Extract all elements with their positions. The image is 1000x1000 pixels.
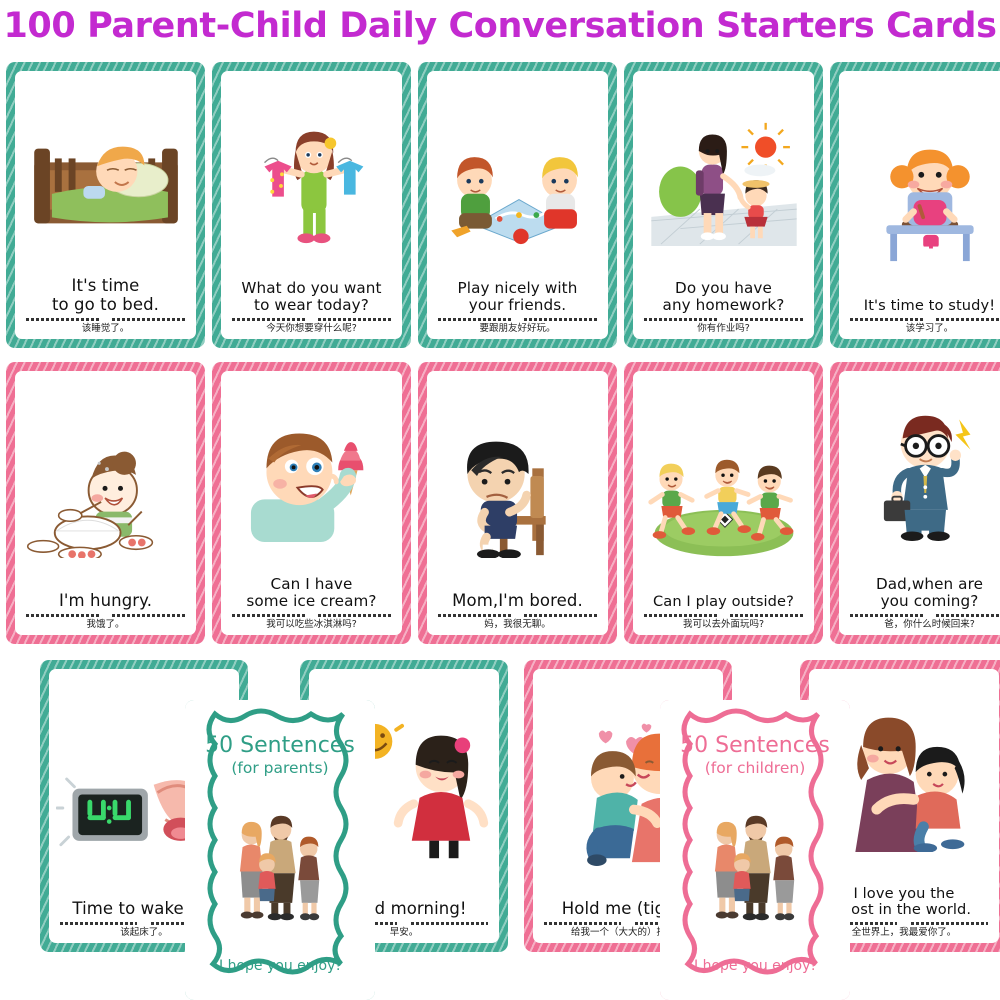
- card-chinese-text: 今天你想要穿什么呢?: [266, 323, 357, 339]
- card-chinese-text: 该学习了。: [906, 323, 954, 339]
- qr-code[interactable]: [707, 248, 741, 279]
- writing-rules: [438, 318, 597, 321]
- card-chinese-text: 早安。: [390, 927, 419, 943]
- qr-code[interactable]: [611, 868, 645, 899]
- product-image: 100 Parent-Child Daily Conversation Star…: [0, 0, 1000, 1000]
- flashcard[interactable]: It's time to study! 该学习了。: [830, 62, 1000, 348]
- flashcard[interactable]: Play nicely with your friends. 要跟朋友好好玩。: [418, 62, 617, 348]
- card-english-text: Can I play outside?: [650, 594, 797, 610]
- flashcard[interactable]: I'm hungry. 我饿了。: [6, 362, 205, 644]
- qr-code[interactable]: [127, 868, 161, 899]
- writing-rules: [26, 318, 185, 321]
- illustration-family-of-four: [232, 814, 328, 922]
- illustration-bored-boy-on-chair: [427, 371, 608, 560]
- card-chinese-text: 我饿了。: [86, 619, 124, 635]
- cover-subtitle: (for children): [680, 759, 830, 777]
- cover-card-children[interactable]: 50 Sentences (for children): [660, 700, 850, 1000]
- card-chinese-text: 该睡觉了。: [82, 323, 130, 339]
- card-english-text: Mom,I'm bored.: [449, 592, 586, 611]
- qr-code[interactable]: [501, 248, 535, 279]
- qr-code[interactable]: [387, 868, 421, 899]
- card-english-text: It's time to go to bed.: [49, 277, 162, 314]
- card-chinese-text: 要跟朋友好好玩。: [479, 323, 555, 339]
- qr-code[interactable]: [89, 245, 123, 276]
- illustration-girl-choosing-clothes: [221, 71, 402, 248]
- qr-code[interactable]: [89, 560, 123, 591]
- cover-title: 50 Sentences: [205, 734, 355, 757]
- writing-rules: [232, 614, 391, 617]
- card-english-text: I'm hungry.: [56, 592, 155, 611]
- flashcard[interactable]: Mom,I'm bored. 妈，我很无聊。: [418, 362, 617, 644]
- illustration-mother-and-daughter-walking: [633, 71, 814, 248]
- illustration-girl-eating-rice-bowl: [15, 371, 196, 560]
- writing-rules: [644, 614, 803, 617]
- illustration-family-of-four: [707, 814, 803, 922]
- card-english-text: Can I have some ice cream?: [243, 576, 379, 610]
- page-title: 100 Parent-Child Daily Conversation Star…: [0, 0, 1000, 52]
- flashcard[interactable]: What do you want to wear today? 今天你想要穿什么…: [212, 62, 411, 348]
- cover-footer: I hope you enjoy!: [219, 958, 341, 974]
- qr-code[interactable]: [913, 266, 947, 297]
- flashcard[interactable]: It's time to go to bed. 该睡觉了。: [6, 62, 205, 348]
- card-chinese-text: 妈，我很无聊。: [484, 619, 551, 635]
- writing-rules: [644, 318, 803, 321]
- card-english-text: What do you want to wear today?: [238, 280, 384, 314]
- qr-code[interactable]: [707, 562, 741, 593]
- flashcard[interactable]: Can I play outside? 我可以去外面玩吗?: [624, 362, 823, 644]
- card-english-text: Dad,when are you coming?: [873, 576, 986, 610]
- illustration-girl-at-desk-studying: [839, 71, 1000, 266]
- card-chinese-text: 你有作业吗?: [697, 323, 750, 339]
- writing-rules: [850, 614, 1000, 617]
- card-chinese-text: 全世界上，我最爱你了。: [852, 927, 957, 943]
- card-chinese-text: 爸，你什么时候回来?: [884, 619, 975, 635]
- writing-rules: [850, 318, 1000, 321]
- illustration-businessman-dad-with-briefcase: [839, 371, 1000, 544]
- cover-title: 50 Sentences: [680, 734, 830, 757]
- illustration-boy-holding-ice-cream-cone: [221, 371, 402, 544]
- card-english-text: Play nicely with your friends.: [455, 280, 581, 314]
- qr-code[interactable]: [295, 544, 329, 575]
- cover-card-parents[interactable]: 50 Sentences (for parents): [185, 700, 375, 1000]
- card-chinese-text: 该起床了。: [120, 927, 168, 943]
- qr-code[interactable]: [295, 248, 329, 279]
- card-chinese-text: 我可以去外面玩吗?: [683, 619, 764, 635]
- writing-rules: [232, 318, 391, 321]
- cover-subtitle: (for parents): [205, 759, 355, 777]
- flashcard[interactable]: Do you have any homework? 你有作业吗?: [624, 62, 823, 348]
- writing-rules: [438, 614, 597, 617]
- flashcard[interactable]: Can I have some ice cream? 我可以吃些冰淇淋吗?: [212, 362, 411, 644]
- illustration-three-children-playing-outdoors: [633, 371, 814, 562]
- qr-code[interactable]: [913, 544, 947, 575]
- illustration-child-sleeping-in-bed: [15, 71, 196, 245]
- card-english-text: Do you have any homework?: [660, 280, 788, 314]
- writing-rules: [26, 614, 185, 617]
- card-english-text: It's time to study!: [861, 298, 998, 314]
- illustration-two-children-board-game: [427, 71, 608, 248]
- qr-code[interactable]: [887, 854, 921, 885]
- cover-footer: I hope you enjoy!: [694, 958, 816, 974]
- card-english-text: I love you the most in the world.: [834, 886, 974, 919]
- card-chinese-text: 我可以吃些冰淇淋吗?: [266, 619, 357, 635]
- flashcard[interactable]: Dad,when are you coming? 爸，你什么时候回来?: [830, 362, 1000, 644]
- qr-code[interactable]: [501, 560, 535, 591]
